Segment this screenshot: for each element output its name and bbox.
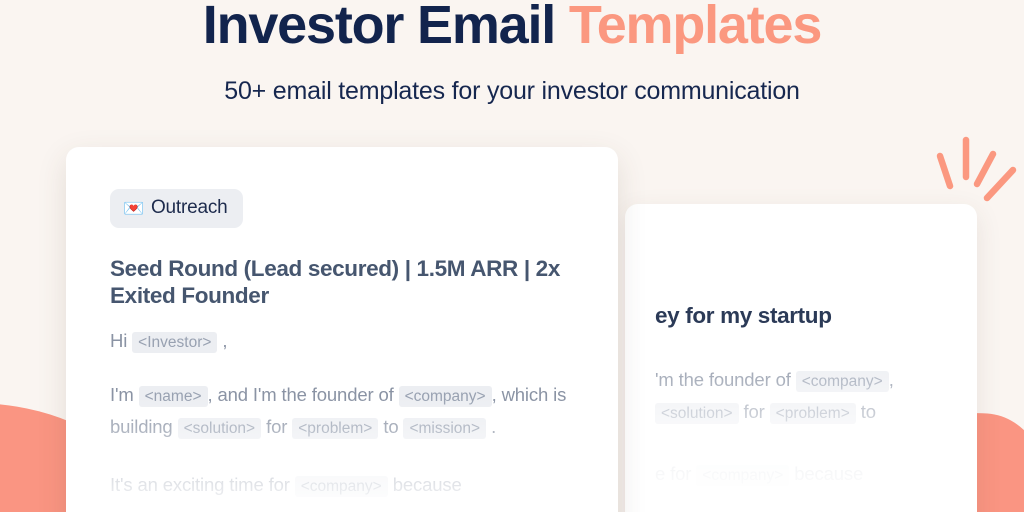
placeholder-chip-company: <company> [796,371,889,392]
text-fragment: because [388,474,462,495]
text-fragment: for [261,416,292,437]
template-card-back-intro: 'm the founder of <company>, <solution> … [655,365,947,429]
page-title-accent: Templates [569,0,821,55]
placeholder-chip-company: <company> [399,386,492,407]
text-fragment: , [889,369,894,390]
text-fragment: It's an exciting time for [110,474,295,495]
template-intro-paragraph: I'm <name>, and I'm the founder of <comp… [110,380,574,444]
placeholder-chip-solution: <solution> [178,418,262,439]
placeholder-chip-company: <company> [295,476,388,497]
placeholder-chip-solution: <solution> [655,403,739,424]
text-fragment: , [217,330,227,351]
text-fragment: Hi [110,330,132,351]
template-card-front-title: Seed Round (Lead secured) | 1.5M ARR | 2… [110,255,574,309]
hero-banner: Investor Email Templates 50+ email templ… [0,0,1024,512]
text-fragment: because [789,463,863,484]
placeholder-chip-problem: <problem> [292,418,378,439]
page-title: Investor Email Templates [0,0,1024,56]
text-fragment: . [486,416,496,437]
page-title-primary: Investor Email [203,0,569,55]
template-card-back-title: ey for my startup [655,302,947,329]
placeholder-chip-investor: <Investor> [132,332,217,353]
page-subtitle: 50+ email templates for your investor co… [0,76,1024,106]
category-badge-label: Outreach [151,197,228,219]
template-card-front[interactable]: 💌 Outreach Seed Round (Lead secured) | 1… [66,147,618,512]
text-fragment: e for [655,463,696,484]
template-greeting-line: Hi <Investor> , [110,326,574,358]
text-fragment: 'm the founder of [655,369,796,390]
placeholder-chip-company: <company> [696,465,789,486]
love-letter-icon: 💌 [123,200,144,217]
placeholder-chip-problem: <problem> [770,403,856,424]
text-fragment: , and I'm the founder of [208,384,399,405]
text-fragment: to [378,416,403,437]
category-badge-outreach[interactable]: 💌 Outreach [110,189,243,228]
placeholder-chip-name: <name> [139,386,208,407]
template-card-back[interactable]: ey for my startup 'm the founder of <com… [625,204,977,512]
placeholder-chip-mission: <mission> [403,418,486,439]
text-fragment: I'm [110,384,139,405]
text-fragment: for [739,401,770,422]
text-fragment: to [856,401,876,422]
template-exciting-paragraph: It's an exciting time for <company> beca… [110,470,574,502]
template-card-back-exciting: e for <company> because [655,459,947,491]
